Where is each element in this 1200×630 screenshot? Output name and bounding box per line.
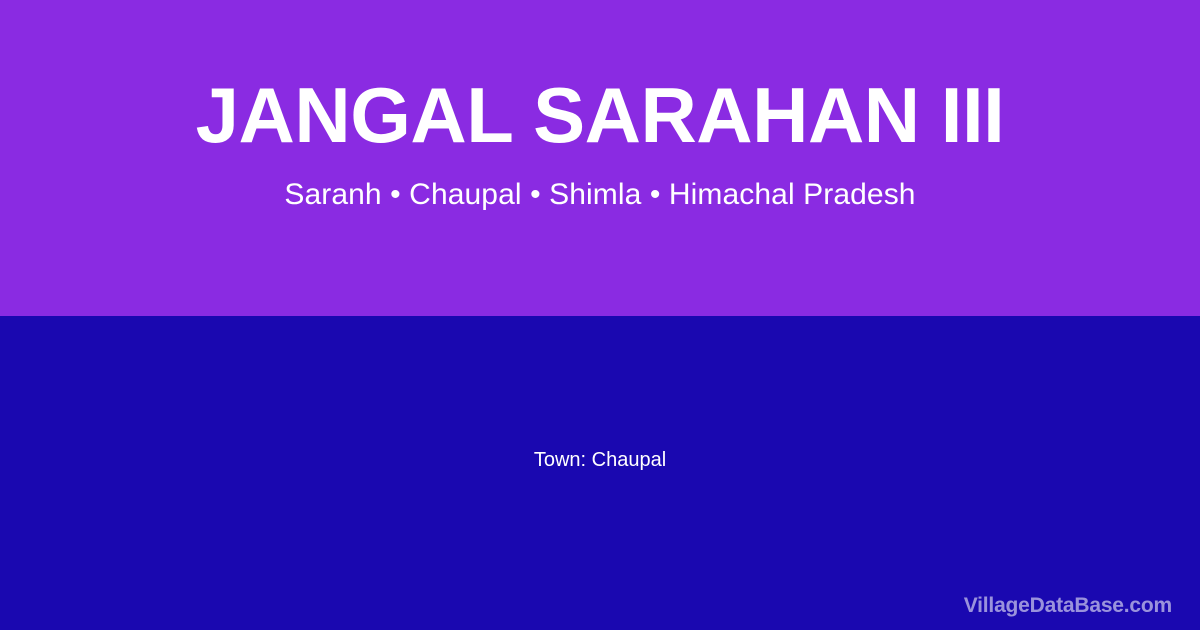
details-panel: Town: Chaupal bbox=[0, 316, 1200, 630]
hero-banner: JANGAL SARAHAN III Saranh • Chaupal • Sh… bbox=[0, 0, 1200, 316]
hero-content: JANGAL SARAHAN III Saranh • Chaupal • Sh… bbox=[0, 0, 1200, 316]
breadcrumb: Saranh • Chaupal • Shimla • Himachal Pra… bbox=[284, 178, 915, 211]
site-watermark: VillageDataBase.com bbox=[964, 593, 1172, 618]
page-title: JANGAL SARAHAN III bbox=[196, 76, 1005, 154]
town-detail-row: Town: Chaupal bbox=[0, 316, 1200, 630]
village-info-card: JANGAL SARAHAN III Saranh • Chaupal • Sh… bbox=[0, 0, 1200, 630]
town-detail-text: Town: Chaupal bbox=[534, 448, 666, 472]
